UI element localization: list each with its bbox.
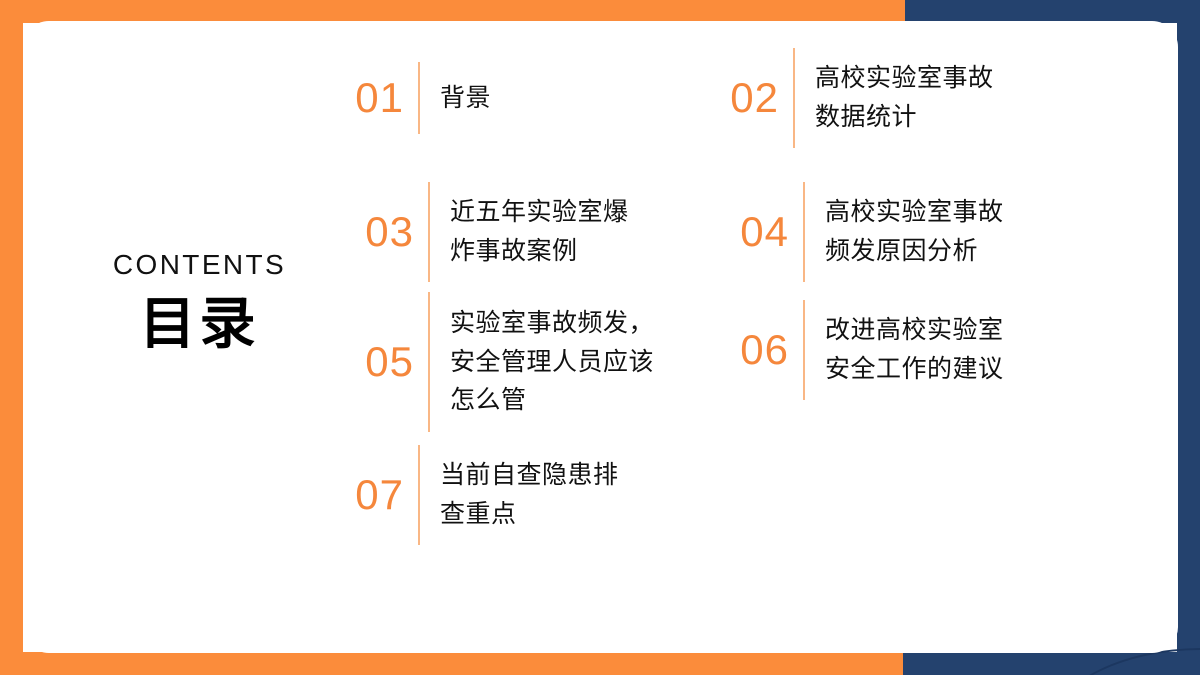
toc-label-07: 当前自查隐患排 查重点: [440, 456, 619, 534]
toc-number-03: 03: [340, 211, 414, 253]
toc-item-07[interactable]: 07 当前自查隐患排 查重点: [330, 445, 619, 545]
slide-canvas: CONTENTS 目录 01 背景 02 高校实验室事故 数据统计 03 近五年…: [0, 0, 1200, 675]
bottom-blue-band: [903, 652, 1200, 675]
toc-number-02: 02: [705, 77, 779, 119]
bottom-orange-band: [0, 652, 903, 675]
toc-number-07: 07: [330, 474, 404, 516]
toc-label-02: 高校实验室事故 数据统计: [815, 59, 994, 137]
toc-divider-01: [418, 62, 420, 134]
toc-item-04[interactable]: 04 高校实验室事故 频发原因分析: [715, 182, 1004, 282]
toc-item-05[interactable]: 05 实验室事故频发， 安全管理人员应该 怎么管: [340, 292, 654, 432]
toc-divider-06: [803, 300, 805, 400]
top-orange-band: [0, 0, 905, 23]
top-blue-band: [905, 0, 1200, 23]
toc-label-01: 背景: [440, 79, 491, 118]
toc-divider-03: [428, 182, 430, 282]
toc-item-06[interactable]: 06 改进高校实验室 安全工作的建议: [715, 300, 1004, 400]
toc-label-05: 实验室事故频发， 安全管理人员应该 怎么管: [450, 304, 654, 420]
toc-number-05: 05: [340, 341, 414, 383]
right-blue-band: [1177, 0, 1200, 675]
left-orange-band: [0, 0, 23, 675]
toc-divider-07: [418, 445, 420, 545]
toc-divider-02: [793, 48, 795, 148]
toc-divider-04: [803, 182, 805, 282]
toc-label-04: 高校实验室事故 频发原因分析: [825, 193, 1004, 271]
title-chinese: 目录: [62, 295, 337, 354]
page-title: CONTENTS 目录: [62, 250, 337, 354]
toc-label-06: 改进高校实验室 安全工作的建议: [825, 311, 1004, 389]
toc-item-03[interactable]: 03 近五年实验室爆 炸事故案例: [340, 182, 629, 282]
toc-number-06: 06: [715, 329, 789, 371]
toc-item-01[interactable]: 01 背景: [330, 62, 491, 134]
toc-divider-05: [428, 292, 430, 432]
toc-item-02[interactable]: 02 高校实验室事故 数据统计: [705, 48, 994, 148]
toc-number-01: 01: [330, 77, 404, 119]
toc-label-03: 近五年实验室爆 炸事故案例: [450, 193, 629, 271]
title-english: CONTENTS: [62, 250, 337, 281]
toc-number-04: 04: [715, 211, 789, 253]
